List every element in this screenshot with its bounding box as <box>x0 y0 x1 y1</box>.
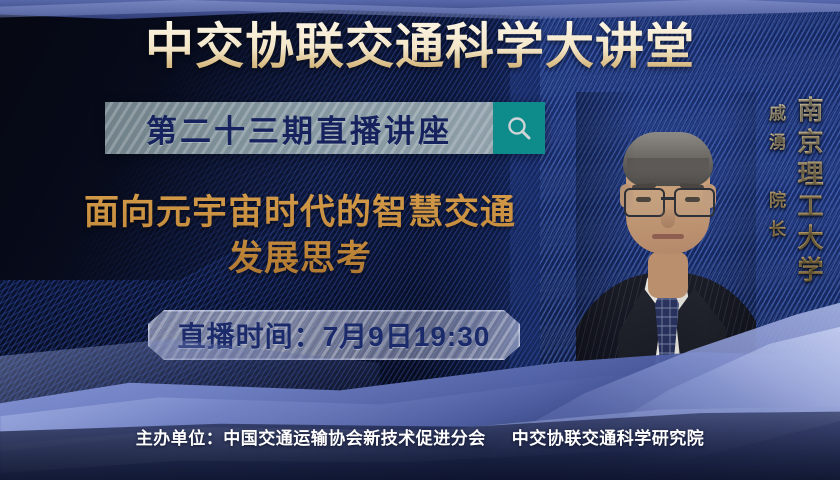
episode-label: 第二十三期直播讲座 <box>146 106 452 151</box>
speaker-portrait <box>576 92 756 387</box>
footer-org-1: 中国交通运输协会新技术促进分会 <box>223 429 486 448</box>
portrait-shading <box>576 92 756 387</box>
episode-banner-bar: 第二十三期直播讲座 <box>105 102 493 154</box>
broadcast-time-badge: 直播时间：7月9日19:30 <box>148 310 520 360</box>
footer-prefix: 主办单位： <box>136 429 224 448</box>
lecture-headline: 面向元宇宙时代的智慧交通 发展思考 <box>40 190 560 282</box>
speaker-affiliation: 南京理工大学 <box>791 96 828 288</box>
broadcast-time-label: 直播时间：7月9日19:30 <box>178 315 491 355</box>
footer-org-2: 中交协联交通科学研究院 <box>512 429 705 448</box>
headline-line-1: 面向元宇宙时代的智慧交通 <box>40 190 560 236</box>
footer-organizers: 主办单位：中国交通运输协会新技术促进分会中交协联交通科学研究院 <box>0 424 840 449</box>
search-icon <box>505 114 533 142</box>
episode-banner: 第二十三期直播讲座 <box>105 102 545 154</box>
speaker-name-title: 戚湧 院长 <box>763 104 788 249</box>
page-title: 中交协联交通科学大讲堂 <box>0 18 840 76</box>
poster-canvas: 南京理工大学 戚湧 院长 中交协联交通科学大讲堂 第二十三期直播讲座 面向元宇宙… <box>0 0 840 480</box>
headline-line-2: 发展思考 <box>40 236 560 282</box>
search-button[interactable] <box>493 102 545 154</box>
